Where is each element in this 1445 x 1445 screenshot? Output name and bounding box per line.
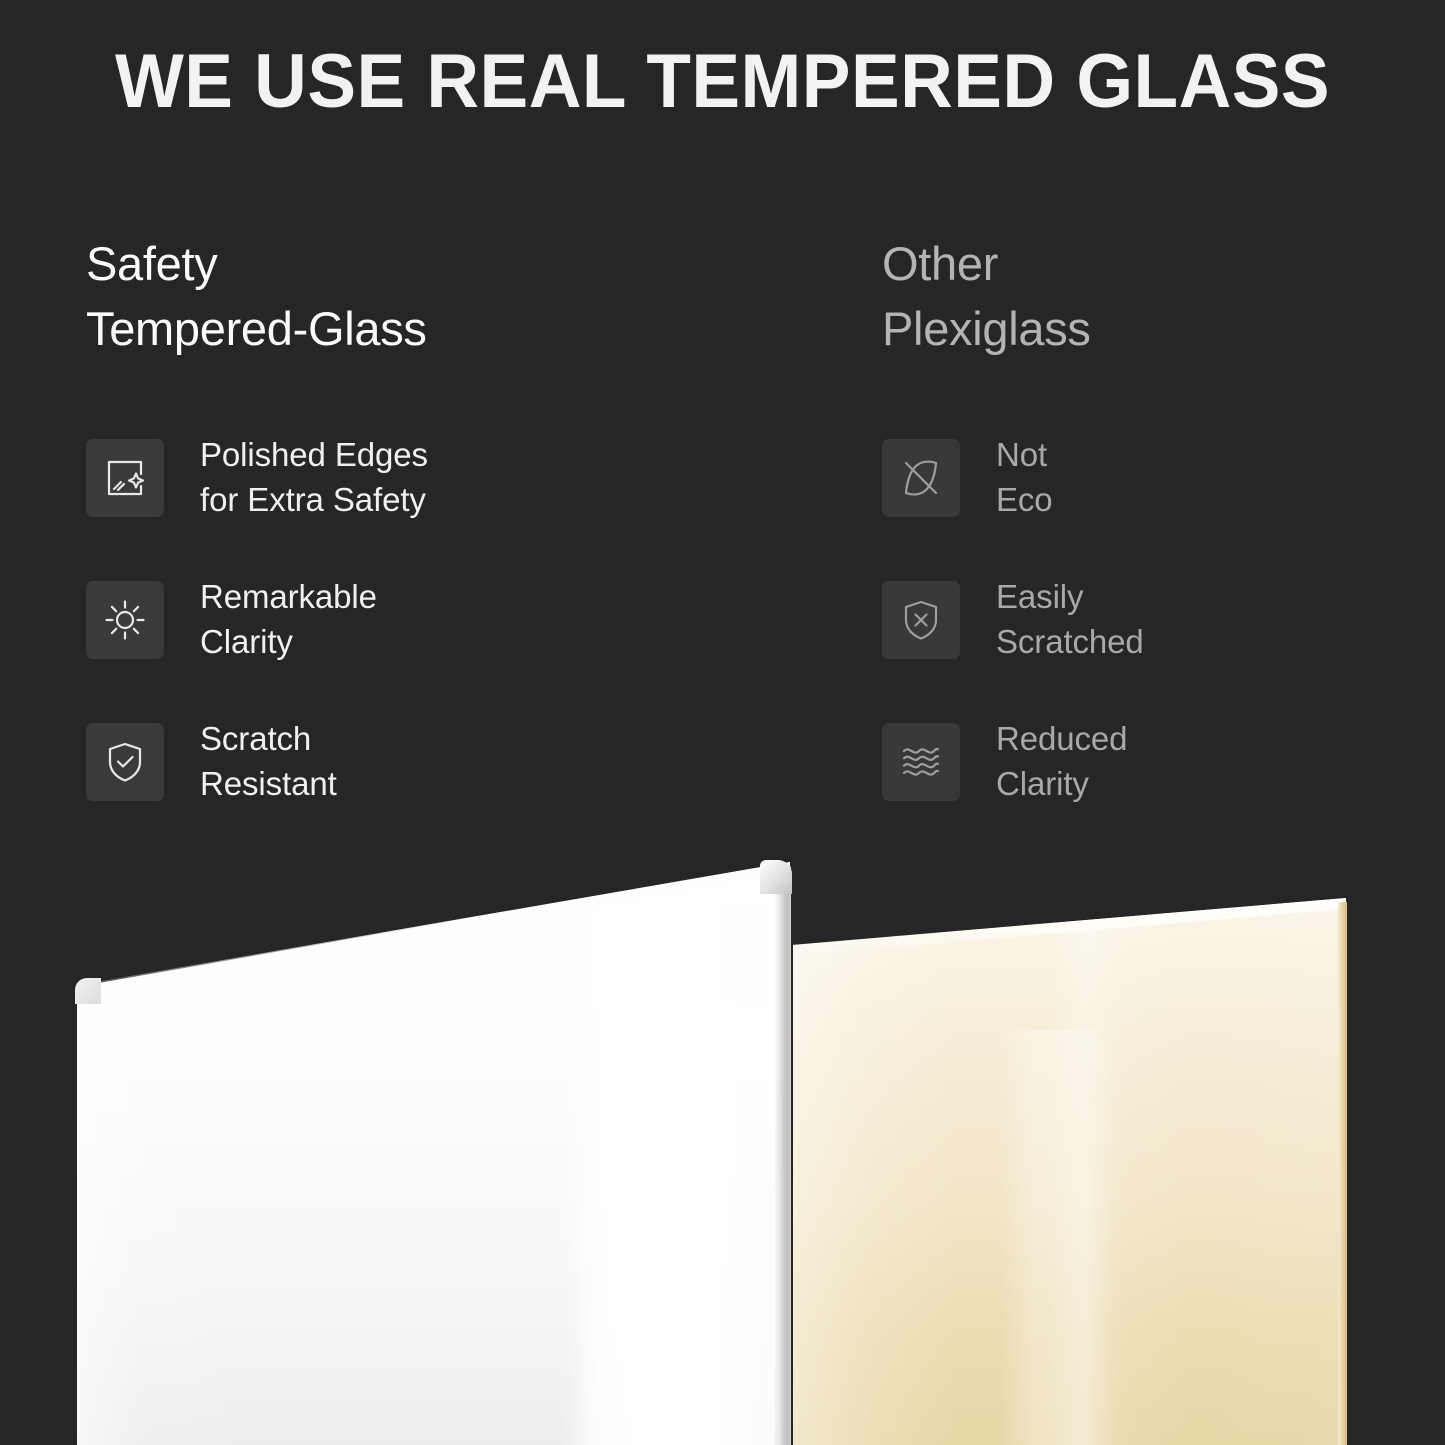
column-title: Other Plexiglass: [882, 232, 1445, 362]
page-title: WE USE REAL TEMPERED GLASS: [29, 42, 1416, 122]
feature-item: Not Eco: [882, 426, 1445, 530]
wavy-lines-icon: [882, 723, 960, 801]
comparison-columns: Safety Tempered-Glass Polished Edges for…: [0, 232, 1445, 852]
column-tempered-glass: Safety Tempered-Glass Polished Edges for…: [86, 232, 726, 852]
feature-item: Reduced Clarity: [882, 710, 1445, 814]
feature-label: Remarkable Clarity: [200, 575, 377, 665]
feature-list: Not Eco Easily Scratched: [882, 426, 1445, 814]
glass-side-bevel: [774, 866, 791, 1445]
column-other-plexiglass: Other Plexiglass Not Eco: [882, 232, 1445, 852]
feature-label: Scratch Resistant: [200, 717, 337, 807]
glass-panels-illustration: [0, 840, 1445, 1445]
feature-label: Reduced Clarity: [996, 717, 1127, 807]
feature-label: Easily Scratched: [996, 575, 1144, 665]
polished-glass-pane-sparkle-icon: [86, 439, 164, 517]
glass-top-left-corner: [75, 978, 101, 1004]
column-title: Safety Tempered-Glass: [86, 232, 726, 362]
glass-reflection: [575, 1005, 775, 1445]
feature-item: Easily Scratched: [882, 568, 1445, 672]
feature-item: Remarkable Clarity: [86, 568, 726, 672]
feature-label: Not Eco: [996, 433, 1053, 523]
shield-x-icon: [882, 581, 960, 659]
plexiglass-side-edge: [1338, 902, 1347, 1445]
feature-item: Scratch Resistant: [86, 710, 726, 814]
sun-brightness-icon: [86, 581, 164, 659]
product-comparison-infographic: WE USE REAL TEMPERED GLASS Safety Temper…: [0, 0, 1445, 1445]
feature-label: Polished Edges for Extra Safety: [200, 433, 428, 523]
leaf-crossed-out-icon: [882, 439, 960, 517]
glass-top-right-corner: [760, 860, 792, 894]
feature-item: Polished Edges for Extra Safety: [86, 426, 726, 530]
feature-list: Polished Edges for Extra Safety Remarkab…: [86, 426, 726, 814]
shield-check-icon: [86, 723, 164, 801]
plexiglass-reflection: [1000, 1030, 1115, 1445]
